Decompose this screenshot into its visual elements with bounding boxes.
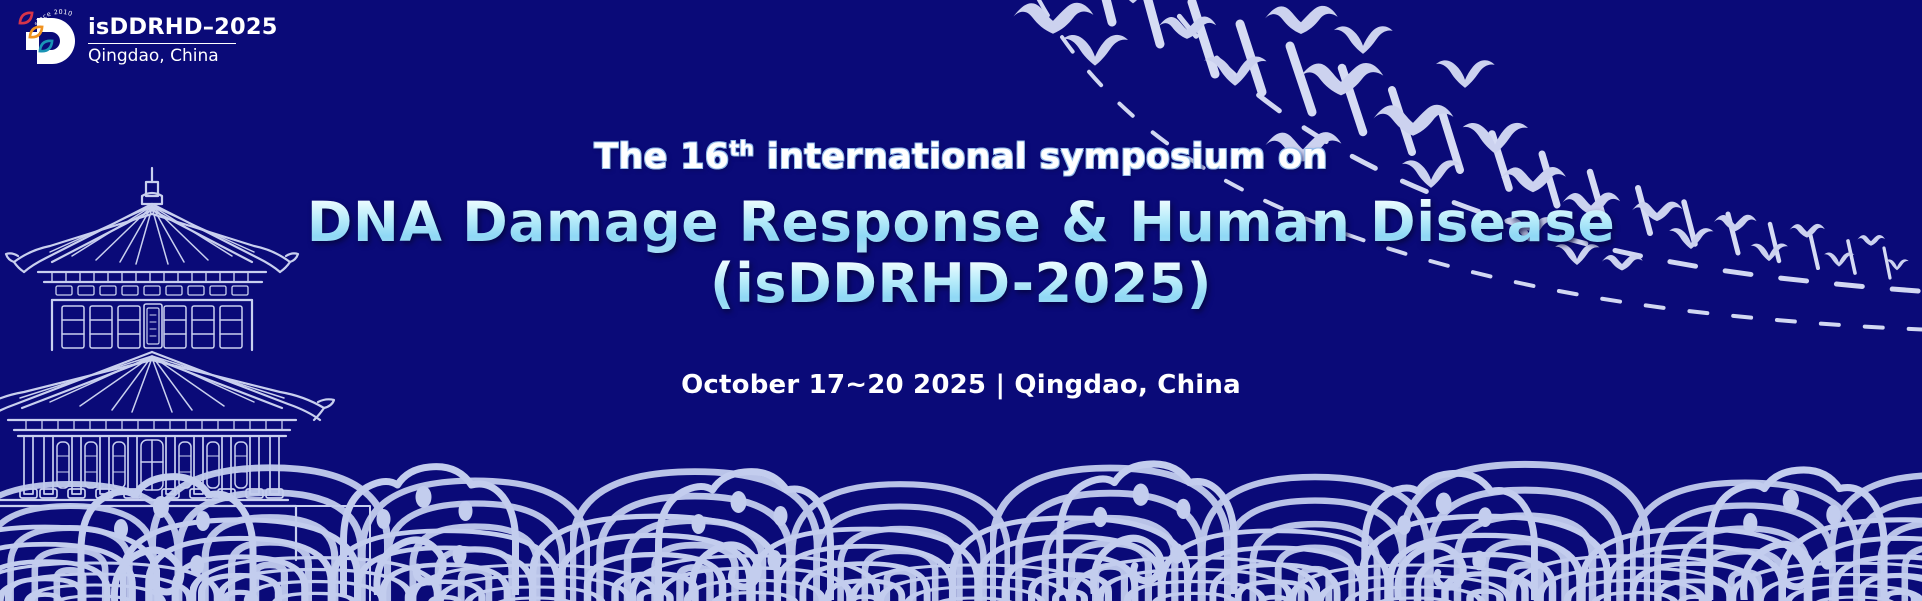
logo-divider xyxy=(88,43,236,45)
superhead-line: The 16th international symposium on xyxy=(0,137,1922,177)
dna-helix-birds-artwork xyxy=(0,0,1922,601)
superhead-prefix: The 16 xyxy=(594,137,729,177)
logo-acronym: isDDRHD–2025 xyxy=(88,16,258,39)
title-line-1: DNA Damage Response & Human Disease xyxy=(0,190,1922,254)
event-date-location: October 17~20 2025 | Qingdao, China xyxy=(0,370,1922,400)
wave-pattern-artwork xyxy=(0,0,1922,601)
title-line-2: (isDDRHD-2025) xyxy=(0,252,1922,315)
pagoda-artwork xyxy=(0,0,1922,601)
logo-mark-icon: since 2010 xyxy=(14,2,86,74)
superhead-ordinal: th xyxy=(729,136,754,160)
conference-banner: since 2010 isDDRHD–2025 Qingdao, China T… xyxy=(0,0,1922,601)
logo-text-block: isDDRHD–2025 Qingdao, China xyxy=(88,16,258,65)
logo-city: Qingdao, China xyxy=(88,48,258,65)
superhead-suffix: international symposium on xyxy=(754,137,1328,177)
conference-logo[interactable]: since 2010 isDDRHD–2025 Qingdao, China xyxy=(14,2,274,78)
